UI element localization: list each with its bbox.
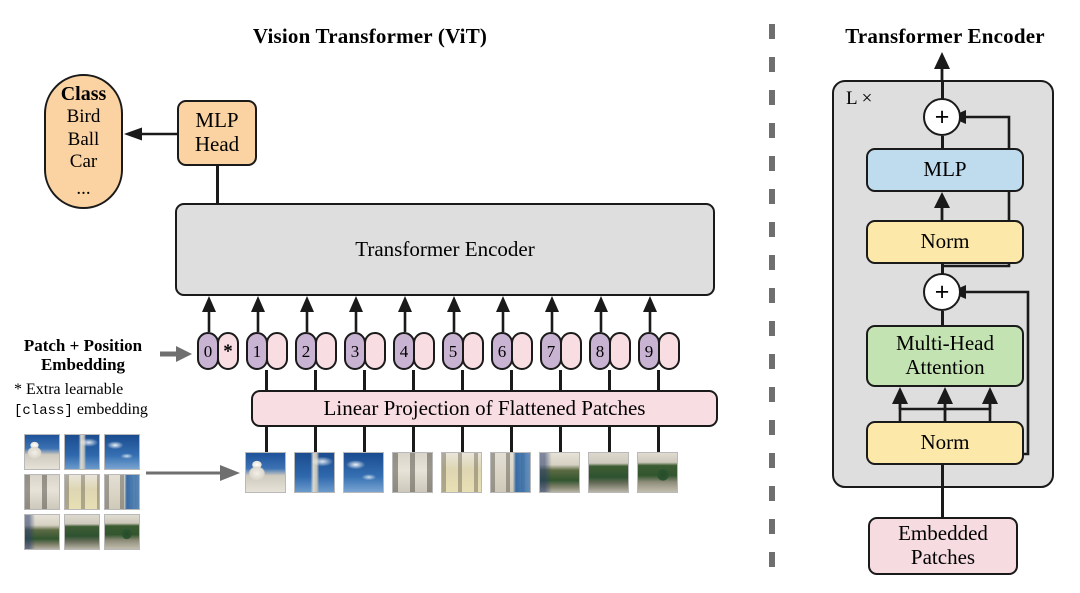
patch-position-embedding-label: Patch + Position Embedding bbox=[8, 336, 158, 374]
token-8-patch-embedding-capsule bbox=[609, 332, 631, 370]
grid-tile-r3c3-garden-tree bbox=[104, 514, 140, 550]
token-7-position-capsule: 7 bbox=[540, 332, 562, 370]
embedded-patches-line2: Patches bbox=[911, 546, 975, 570]
token-4-position-capsule: 4 bbox=[393, 332, 415, 370]
mlp-head-label-line1: MLP bbox=[195, 109, 238, 133]
footnote-class-token: [class] bbox=[14, 403, 73, 419]
encoder-top-trunk bbox=[941, 80, 944, 99]
flat-patch-8-garden-hedge bbox=[588, 452, 629, 493]
right-panel-title: Transformer Encoder bbox=[810, 24, 1080, 49]
token-4-stem bbox=[412, 370, 415, 392]
patch-1-stem bbox=[265, 427, 268, 452]
token-2: 2 bbox=[295, 332, 337, 370]
token-3-patch-embedding-capsule bbox=[364, 332, 386, 370]
class-token-footnote: * Extra learnable [class] embedding bbox=[14, 380, 184, 421]
token-0-class-embedding-capsule: * bbox=[217, 332, 239, 370]
grid-tile-r1c3-sky-cloud bbox=[104, 434, 140, 470]
token-0-position-capsule: 0 bbox=[197, 332, 219, 370]
token-3-position-capsule: 3 bbox=[344, 332, 366, 370]
mlp-head-label-line2: Head bbox=[195, 133, 239, 157]
class-item-car: Car bbox=[70, 151, 97, 173]
mlp-label: MLP bbox=[923, 158, 966, 182]
qkv-arrow-k bbox=[937, 387, 953, 404]
image-to-patches-arrow bbox=[146, 464, 242, 482]
patch-3-stem bbox=[363, 427, 366, 452]
grid-tile-r1c1-dome-facade bbox=[24, 434, 60, 470]
left-panel-title: Vision Transformer (ViT) bbox=[160, 24, 580, 49]
token-3: 3 bbox=[344, 332, 386, 370]
token-1: 1 bbox=[246, 332, 288, 370]
token-6: 6 bbox=[491, 332, 533, 370]
patch-7-stem bbox=[559, 427, 562, 452]
token-9: 9 bbox=[638, 332, 680, 370]
patch-2-stem bbox=[314, 427, 317, 452]
flat-patch-2-sky-tower bbox=[294, 452, 335, 493]
token-9-patch-embedding-capsule bbox=[658, 332, 680, 370]
flat-patch-7-garden-cars bbox=[539, 452, 580, 493]
patch-9-stem bbox=[657, 427, 660, 452]
token-6-position-capsule: 6 bbox=[491, 332, 513, 370]
grid-tile-r3c1-garden-cars bbox=[24, 514, 60, 550]
class-pill-heading: Class bbox=[61, 83, 107, 107]
patch-6-stem bbox=[510, 427, 513, 452]
qkv-branch-arrows bbox=[880, 387, 1010, 421]
panel-divider bbox=[766, 24, 778, 572]
residual-add-mlp: + bbox=[923, 98, 961, 136]
token-2-stem bbox=[314, 370, 317, 392]
transformer-encoder-label: Transformer Encoder bbox=[355, 238, 534, 262]
attention-label-line2: Attention bbox=[905, 356, 984, 380]
source-image-grid bbox=[24, 434, 140, 550]
flat-patch-5-yellow-facade bbox=[441, 452, 482, 493]
flat-patch-9-garden-tree bbox=[637, 452, 678, 493]
grid-tile-r3c2-garden-hedge bbox=[64, 514, 100, 550]
token-6-stem bbox=[510, 370, 513, 392]
flat-patch-4-stone-facade bbox=[392, 452, 433, 493]
linear-projection-label: Linear Projection of Flattened Patches bbox=[324, 397, 646, 421]
token-7-stem bbox=[559, 370, 562, 392]
multi-head-attention-box: Multi-Head Attention bbox=[866, 325, 1024, 387]
grid-tile-r2c1-stone-facade bbox=[24, 474, 60, 510]
token-9-stem bbox=[657, 370, 660, 392]
token-0: 0 * bbox=[197, 332, 239, 370]
patch-5-stem bbox=[461, 427, 464, 452]
token-1-position-capsule: 1 bbox=[246, 332, 268, 370]
residual-add-attention: + bbox=[923, 273, 961, 311]
patch-position-embedding-line2: Embedding bbox=[8, 355, 158, 374]
footnote-line-2-tail: embedding bbox=[73, 401, 148, 418]
attention-label-line1: Multi-Head bbox=[896, 332, 994, 356]
vit-architecture-figure: Vision Transformer (ViT) Class Bird Ball… bbox=[0, 0, 1080, 593]
class-output-pill: Class Bird Ball Car ... bbox=[44, 74, 123, 209]
token-7: 7 bbox=[540, 332, 582, 370]
token-2-position-capsule: 2 bbox=[295, 332, 317, 370]
token-8-position-capsule: 8 bbox=[589, 332, 611, 370]
token-8: 8 bbox=[589, 332, 631, 370]
norm-to-mlp-arrow bbox=[932, 192, 952, 220]
flat-patch-6-tower-facade bbox=[490, 452, 531, 493]
flat-patch-1-dome-facade bbox=[245, 452, 286, 493]
transformer-encoder-box: Transformer Encoder bbox=[175, 203, 715, 296]
footnote-line-2: [class] embedding bbox=[14, 400, 184, 421]
grid-tile-r2c2-yellow-facade bbox=[64, 474, 100, 510]
token-1-patch-embedding-capsule bbox=[266, 332, 288, 370]
mlp-box: MLP bbox=[866, 148, 1024, 192]
mlp-to-add-trunk bbox=[941, 136, 944, 148]
qkv-arrow-q bbox=[892, 387, 908, 404]
token-7-patch-embedding-capsule bbox=[560, 332, 582, 370]
token-5: 5 bbox=[442, 332, 484, 370]
patch-4-stem bbox=[412, 427, 415, 452]
token-5-patch-embedding-capsule bbox=[462, 332, 484, 370]
embedded-patches-box: Embedded Patches bbox=[868, 517, 1018, 575]
flat-patch-3-sky-cloud bbox=[343, 452, 384, 493]
mlp-head-stem bbox=[216, 166, 219, 203]
token-6-patch-embedding-capsule bbox=[511, 332, 533, 370]
token-8-stem bbox=[608, 370, 611, 392]
token-5-position-capsule: 5 bbox=[442, 332, 464, 370]
norm-bottom-label: Norm bbox=[921, 431, 970, 455]
mlp-head-box: MLP Head bbox=[177, 100, 257, 166]
patch-8-stem bbox=[608, 427, 611, 452]
norm-top-label: Norm bbox=[921, 230, 970, 254]
class-item-bird: Bird bbox=[67, 106, 101, 128]
embedding-label-arrow bbox=[160, 345, 194, 363]
footnote-line-1: * Extra learnable bbox=[14, 380, 184, 400]
patch-position-embedding-line1: Patch + Position bbox=[8, 336, 158, 355]
token-5-stem bbox=[461, 370, 464, 392]
token-4-patch-embedding-capsule bbox=[413, 332, 435, 370]
token-1-stem bbox=[265, 370, 268, 392]
qkv-arrow-v bbox=[982, 387, 998, 404]
norm-bottom-box: Norm bbox=[866, 421, 1024, 465]
token-3-stem bbox=[363, 370, 366, 392]
embedded-patches-line1: Embedded bbox=[898, 522, 988, 546]
linear-projection-box: Linear Projection of Flattened Patches bbox=[251, 390, 718, 427]
token-to-encoder-arrows bbox=[195, 296, 705, 332]
class-item-ellipsis: ... bbox=[76, 178, 90, 200]
token-4: 4 bbox=[393, 332, 435, 370]
attention-to-add-trunk bbox=[941, 311, 944, 325]
mlp-head-to-class-arrow bbox=[122, 126, 182, 142]
class-item-ball: Ball bbox=[68, 129, 100, 151]
token-9-position-capsule: 9 bbox=[638, 332, 660, 370]
grid-tile-r1c2-sky-tower bbox=[64, 434, 100, 470]
grid-tile-r2c3-tower-facade bbox=[104, 474, 140, 510]
norm-top-box: Norm bbox=[866, 220, 1024, 264]
embedded-patches-trunk bbox=[941, 465, 944, 517]
token-2-patch-embedding-capsule bbox=[315, 332, 337, 370]
